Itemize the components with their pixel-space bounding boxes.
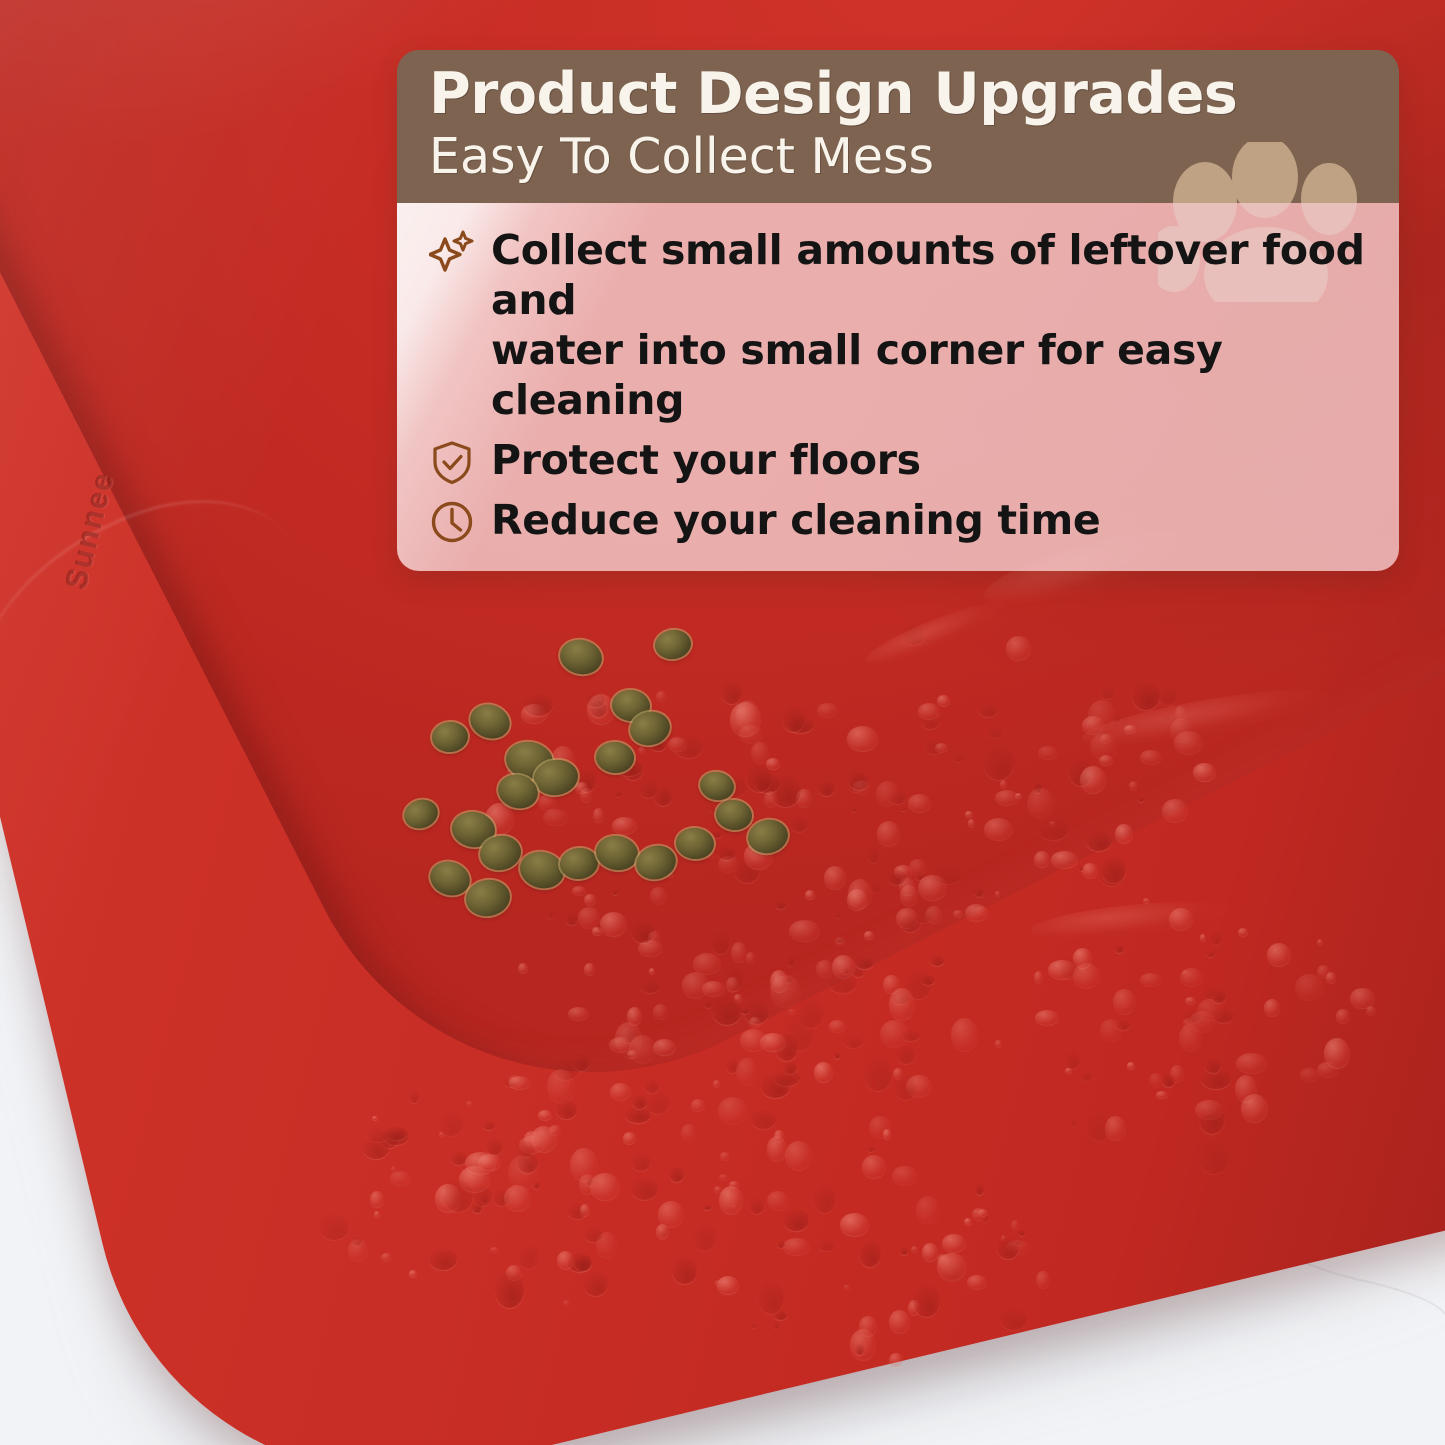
info-panel: Product Design Upgrades Easy To Collect … [397,50,1399,571]
bullet-line-1: Reduce your cleaning time [491,496,1100,544]
panel-subtitle: Easy To Collect Mess [429,130,1373,185]
bullet-line-1: Collect small amounts of leftover food a… [491,226,1365,324]
clock-icon [429,499,475,545]
feature-bullet-list: Collect small amounts of leftover food a… [429,225,1373,545]
panel-title: Product Design Upgrades [429,64,1373,124]
bullet-text: Collect small amounts of leftover food a… [491,225,1373,425]
shield-check-icon [429,439,475,485]
bullet-line-2: water into small corner for easy cleanin… [491,325,1373,425]
bullet-text: Protect your floors [491,435,921,485]
list-item: Reduce your cleaning time [429,495,1373,545]
product-marketing-image: Sunnee Product Design Upgrades Easy To C… [0,0,1445,1445]
bullet-text: Reduce your cleaning time [491,495,1100,545]
list-item: Collect small amounts of leftover food a… [429,225,1373,425]
panel-body: Collect small amounts of leftover food a… [397,203,1399,571]
bullet-line-1: Protect your floors [491,436,921,484]
sparkle-icon [429,229,475,275]
list-item: Protect your floors [429,435,1373,485]
panel-header: Product Design Upgrades Easy To Collect … [397,50,1399,203]
